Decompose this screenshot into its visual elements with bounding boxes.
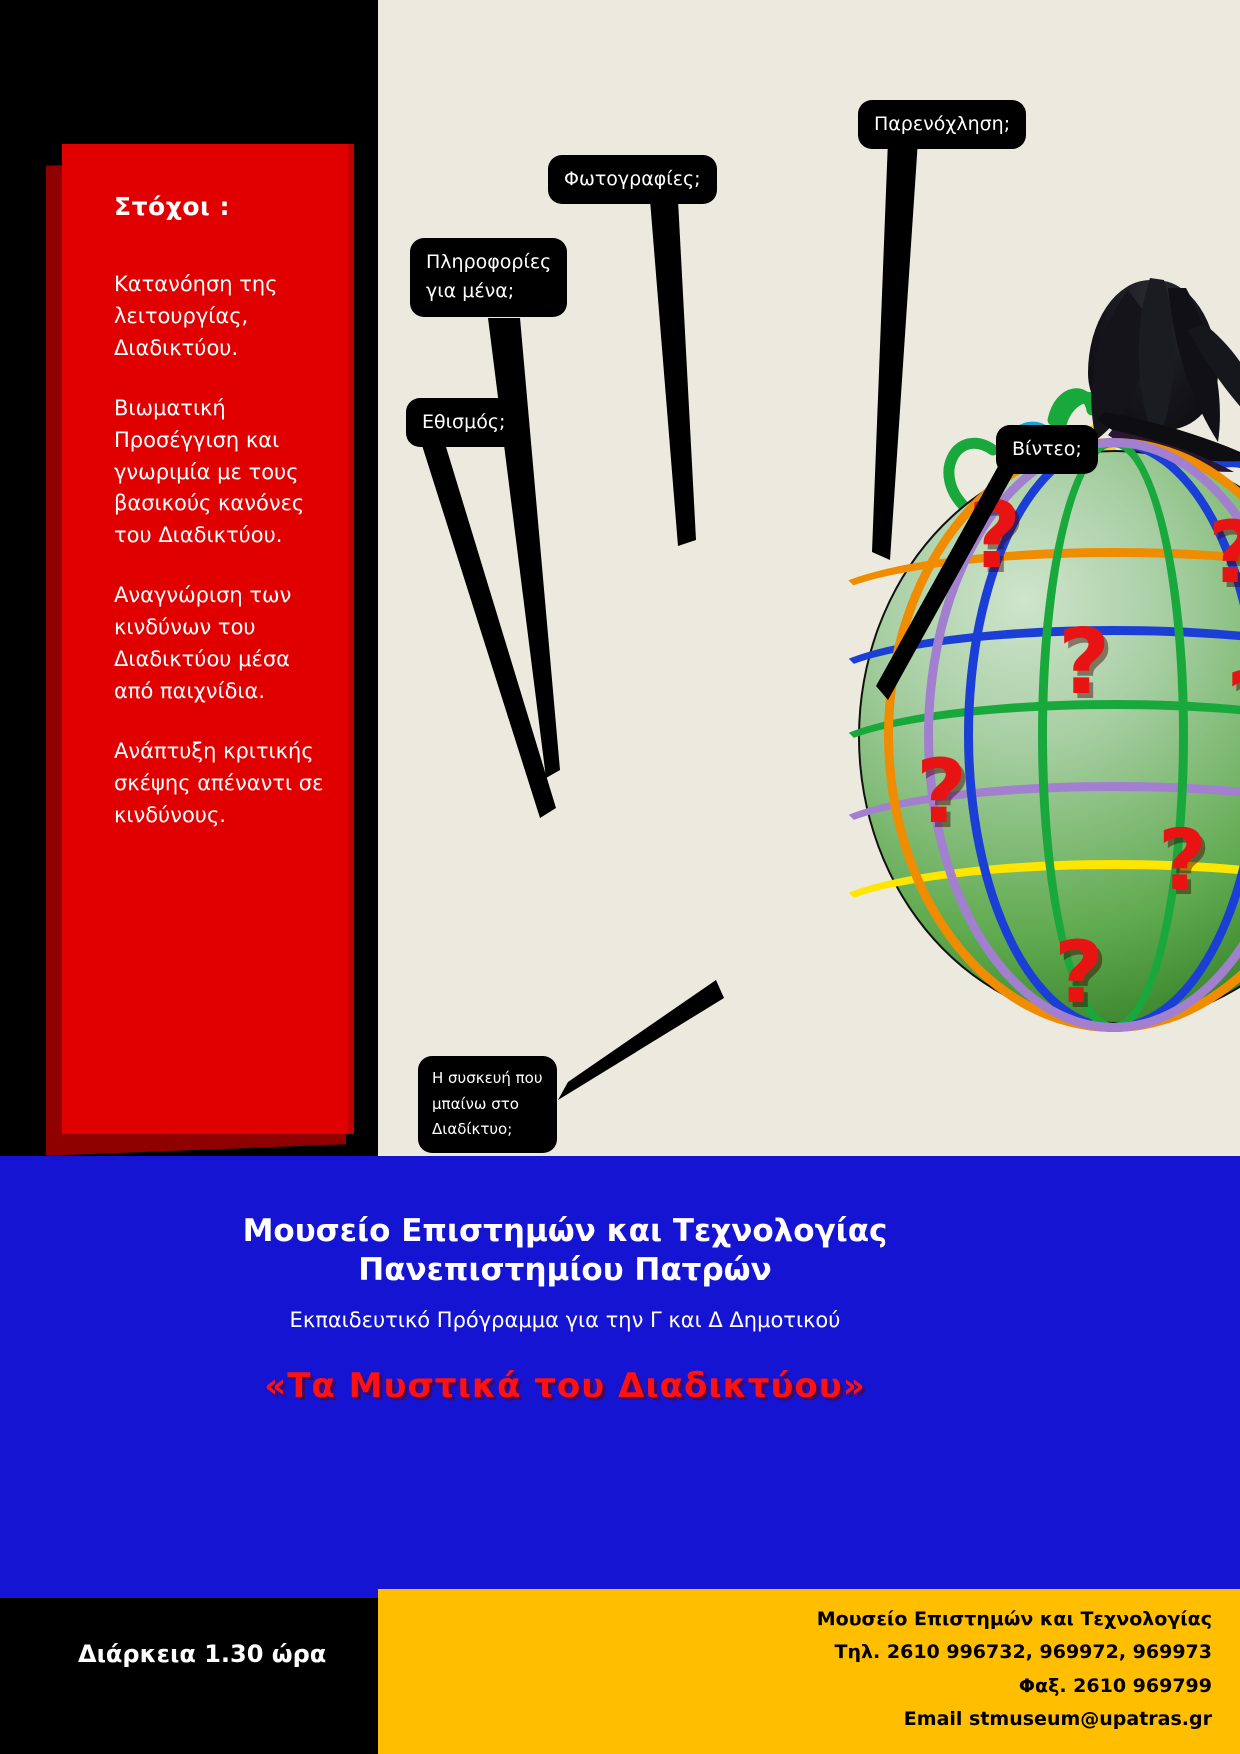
bubble-device[interactable]: Η συσκευή που μπαίνω στο Διαδίκτυο;	[418, 1056, 557, 1153]
bubble-addiction[interactable]: Εθισμός;	[406, 398, 521, 447]
objective-item: Βιωματική Προσέγγιση και γνωριμία με του…	[114, 393, 326, 553]
objectives-heading: Στόχοι :	[114, 192, 326, 221]
objective-item: Ανάπτυξη κριτικής σκέψης απέναντι σε κιν…	[114, 736, 326, 832]
duration-label: Διάρκεια 1.30 ώρα	[78, 1640, 326, 1668]
objective-item: Κατανόηση της λειτουργίας, Διαδικτύου.	[114, 269, 326, 365]
contact-phone: Τηλ. 2610 996732, 969972, 969973	[817, 1636, 1212, 1669]
bubble-harassment[interactable]: Παρενόχληση;	[858, 100, 1026, 149]
objective-item: Αναγνώριση των κινδύνων του Διαδικτύου μ…	[114, 580, 326, 708]
objectives-card: Στόχοι : Κατανόηση της λειτουργίας, Διαδ…	[62, 144, 354, 1134]
contact-box: Μουσείο Επιστημών και Τεχνολογίας Τηλ. 2…	[378, 1589, 1240, 1754]
contact-fax: Φαξ. 2610 969799	[817, 1670, 1212, 1703]
bubble-video[interactable]: Βίντεο;	[996, 425, 1098, 474]
contact-email[interactable]: Email stmuseum@upatras.gr	[817, 1703, 1212, 1736]
program-title: «Τα Μυστικά του Διαδικτύου»	[0, 1366, 1130, 1406]
contact-org: Μουσείο Επιστημών και Τεχνολογίας	[817, 1603, 1212, 1636]
program-subtitle: Εκπαιδευτικό Πρόγραμμα για την Γ και Δ Δ…	[0, 1308, 1130, 1332]
poster-root: ? ? ? ? ? ? ? Παρενόχληση; Φωτογραφίες; …	[0, 0, 1240, 1754]
bubble-photos[interactable]: Φωτογραφίες;	[548, 155, 717, 204]
bubble-info[interactable]: Πληροφορίες για μένα;	[410, 238, 567, 317]
